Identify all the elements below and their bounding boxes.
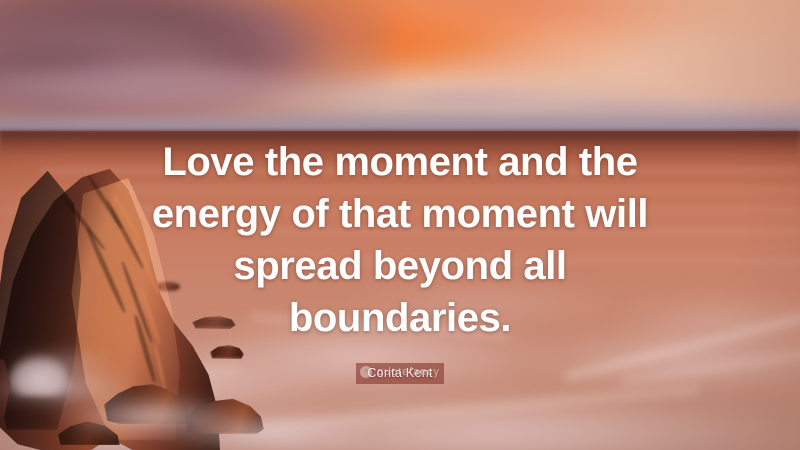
quote-line: spread beyond all boundaries. (140, 240, 660, 344)
quote-text: Love the moment and the energy of that m… (140, 136, 660, 344)
quote-wallpaper: Love the moment and the energy of that m… (0, 0, 800, 450)
quote-overlay: Love the moment and the energy of that m… (0, 0, 800, 450)
quotefancy-watermark[interactable]: “ quotefancy (0, 366, 800, 378)
watermark-brand-label: quotefancy (377, 366, 440, 378)
quote-line: energy of that moment will (140, 188, 660, 240)
quote-line: Love the moment and the (140, 136, 660, 188)
quote-mark-icon: “ (360, 366, 372, 378)
